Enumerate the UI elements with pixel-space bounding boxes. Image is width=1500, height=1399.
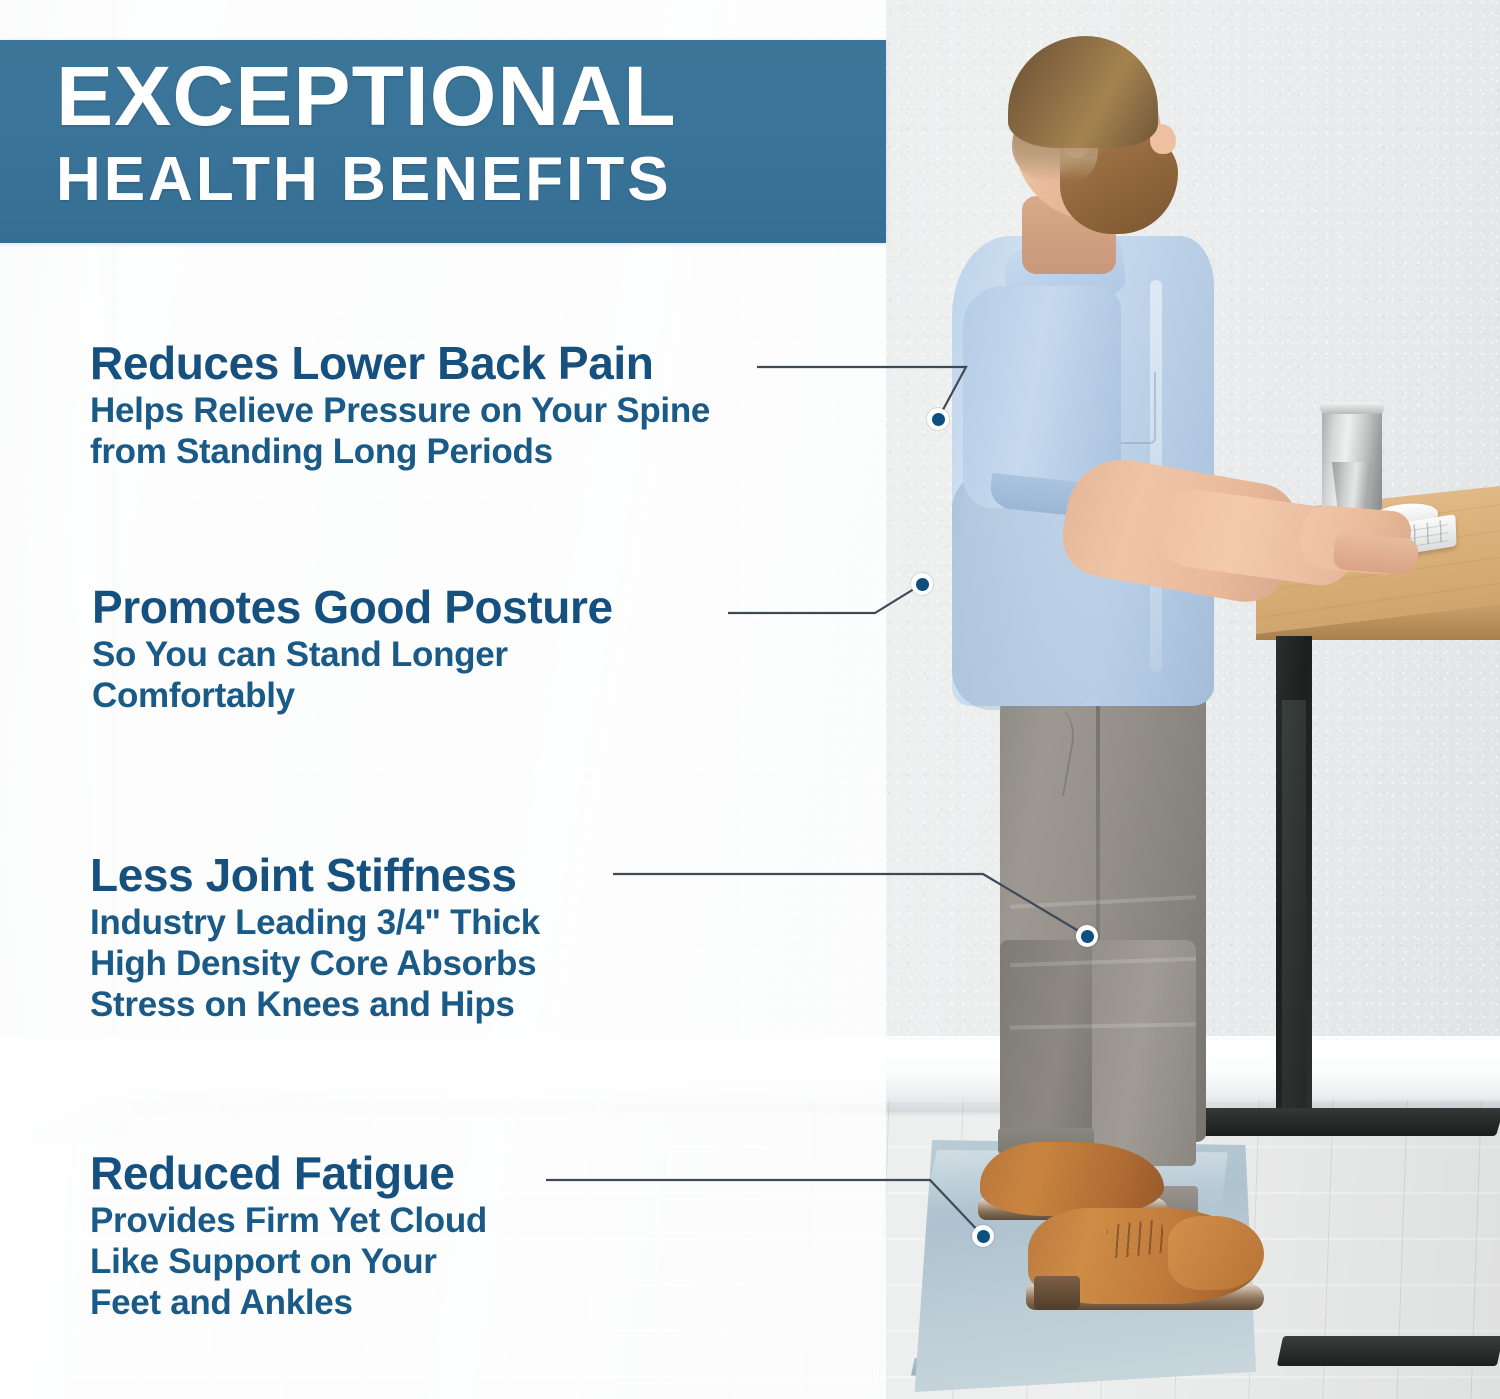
callout-dot-posture	[911, 573, 933, 595]
header-banner: EXCEPTIONAL HEALTH BENEFITS	[0, 40, 886, 243]
person-front-leg	[1092, 940, 1196, 1166]
benefit-block-reduces-lower-back-pain: Reduces Lower Back Pain Helps Relieve Pr…	[90, 338, 710, 472]
person-hair	[1008, 36, 1158, 148]
benefit-title: Reduces Lower Back Pain	[90, 338, 710, 388]
benefit-title: Less Joint Stiffness	[90, 850, 540, 900]
infographic-canvas: EXCEPTIONAL HEALTH BENEFITS Reduces Lowe…	[0, 0, 1500, 1399]
banner-title-line2: HEALTH BENEFITS	[56, 144, 672, 216]
benefit-subtext-line: Industry Leading 3/4" Thick	[90, 902, 540, 943]
shoe-laces	[1106, 1219, 1165, 1259]
banner-title-line1: EXCEPTIONAL	[56, 48, 677, 144]
callout-dot-mat	[972, 1225, 994, 1247]
front-shoe-toe	[1168, 1216, 1264, 1290]
person-fingers	[1333, 533, 1419, 575]
benefit-subtext-line: Helps Relieve Pressure on Your Spine	[90, 390, 710, 431]
benefit-subtext-line: Comfortably	[92, 675, 613, 716]
benefit-subtext-line: Like Support on Your	[90, 1241, 487, 1282]
benefit-subtext-line: So You can Stand Longer	[92, 634, 613, 675]
benefit-block-reduced-fatigue: Reduced Fatigue Provides Firm Yet Cloud …	[90, 1148, 487, 1323]
front-shoe-heel	[1034, 1276, 1080, 1310]
benefit-subtext-line: High Density Core Absorbs	[90, 943, 540, 984]
benefit-title: Promotes Good Posture	[92, 582, 613, 632]
benefit-title: Reduced Fatigue	[90, 1148, 487, 1198]
benefit-subtext-line: Provides Firm Yet Cloud	[90, 1200, 487, 1241]
benefit-block-promotes-good-posture: Promotes Good Posture So You can Stand L…	[92, 582, 613, 716]
benefit-subtext-line: Stress on Knees and Hips	[90, 984, 540, 1025]
benefit-subtext-line: from Standing Long Periods	[90, 431, 710, 472]
benefit-block-less-joint-stiffness: Less Joint Stiffness Industry Leading 3/…	[90, 850, 540, 1025]
callout-dot-knee-joint	[1076, 925, 1098, 947]
person-back-leg	[1000, 940, 1092, 1146]
benefit-subtext-line: Feet and Ankles	[90, 1282, 487, 1323]
callout-dot-lower-back	[927, 408, 949, 430]
